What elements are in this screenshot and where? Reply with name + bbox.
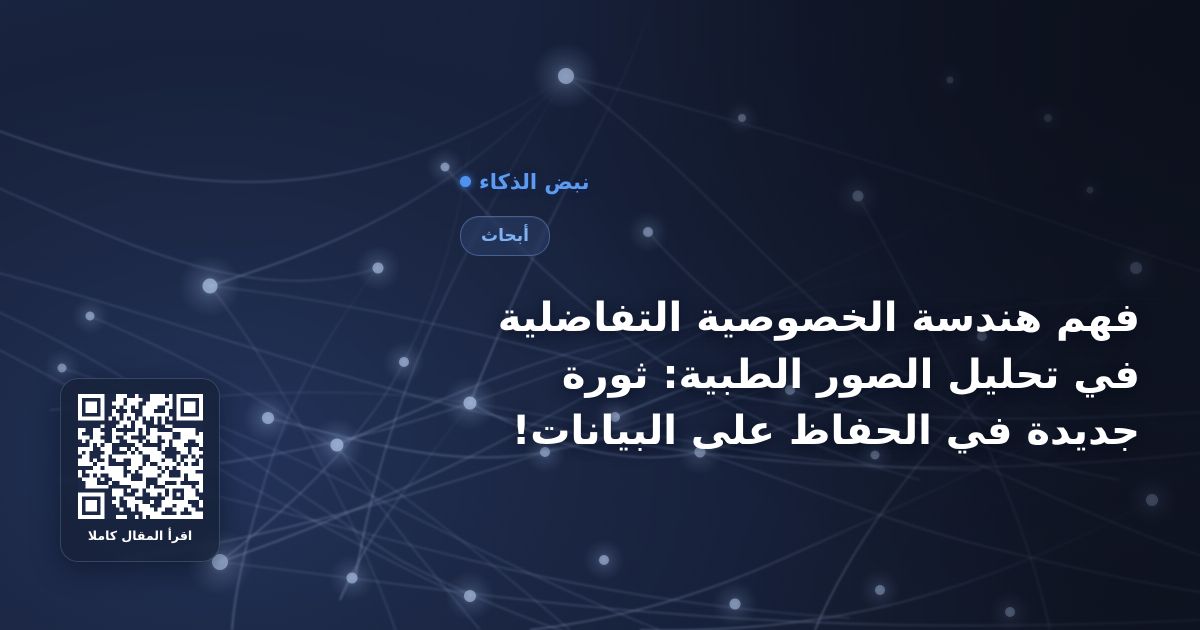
qr-caption: اقرأ المقال كاملا (88, 528, 192, 543)
qr-code-icon (78, 394, 203, 519)
brand-name: نبض الذكاء (479, 170, 589, 194)
social-share-card: اقرأ المقال كاملا نبض الذكاء أبحاث فهم ه… (0, 0, 1200, 630)
qr-code-card[interactable]: اقرأ المقال كاملا (60, 378, 220, 562)
page-title: فهم هندسة الخصوصية التفاضلية في تحليل ال… (460, 290, 1140, 460)
brand-dot-icon (460, 176, 471, 187)
content-column: نبض الذكاء أبحاث فهم هندسة الخصوصية التف… (460, 0, 1200, 630)
brand: نبض الذكاء (460, 170, 589, 194)
category-badge-label: أبحاث (481, 226, 529, 246)
category-badge[interactable]: أبحاث (460, 216, 550, 256)
